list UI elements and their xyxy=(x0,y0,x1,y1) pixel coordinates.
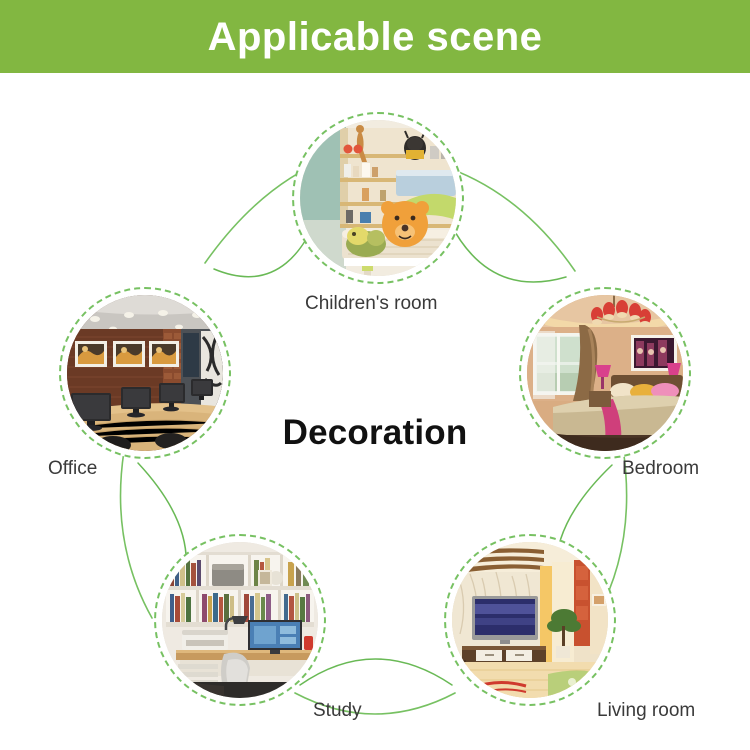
scene-node-bedroom[interactable] xyxy=(519,287,691,459)
page-title: Applicable scene xyxy=(208,17,543,57)
bedroom-photo xyxy=(527,295,683,451)
applicable-scene-infographic: Applicable scene xyxy=(0,0,750,750)
living-room-photo xyxy=(452,542,608,698)
scene-node-office[interactable] xyxy=(59,287,231,459)
children-room-photo xyxy=(300,120,456,276)
scene-label-bedroom: Bedroom xyxy=(622,458,699,480)
header-banner: Applicable scene xyxy=(0,0,750,73)
scene-label-study: Study xyxy=(313,700,362,722)
scene-node-children[interactable] xyxy=(292,112,464,284)
diagram-stage: Decoration xyxy=(0,73,750,750)
scene-node-living[interactable] xyxy=(444,534,616,706)
scene-label-office: Office xyxy=(48,458,97,480)
scene-label-living: Living room xyxy=(597,700,695,722)
scene-node-study[interactable] xyxy=(154,534,326,706)
office-photo xyxy=(67,295,223,451)
scene-label-children: Children's room xyxy=(305,293,437,315)
study-photo xyxy=(162,542,318,698)
